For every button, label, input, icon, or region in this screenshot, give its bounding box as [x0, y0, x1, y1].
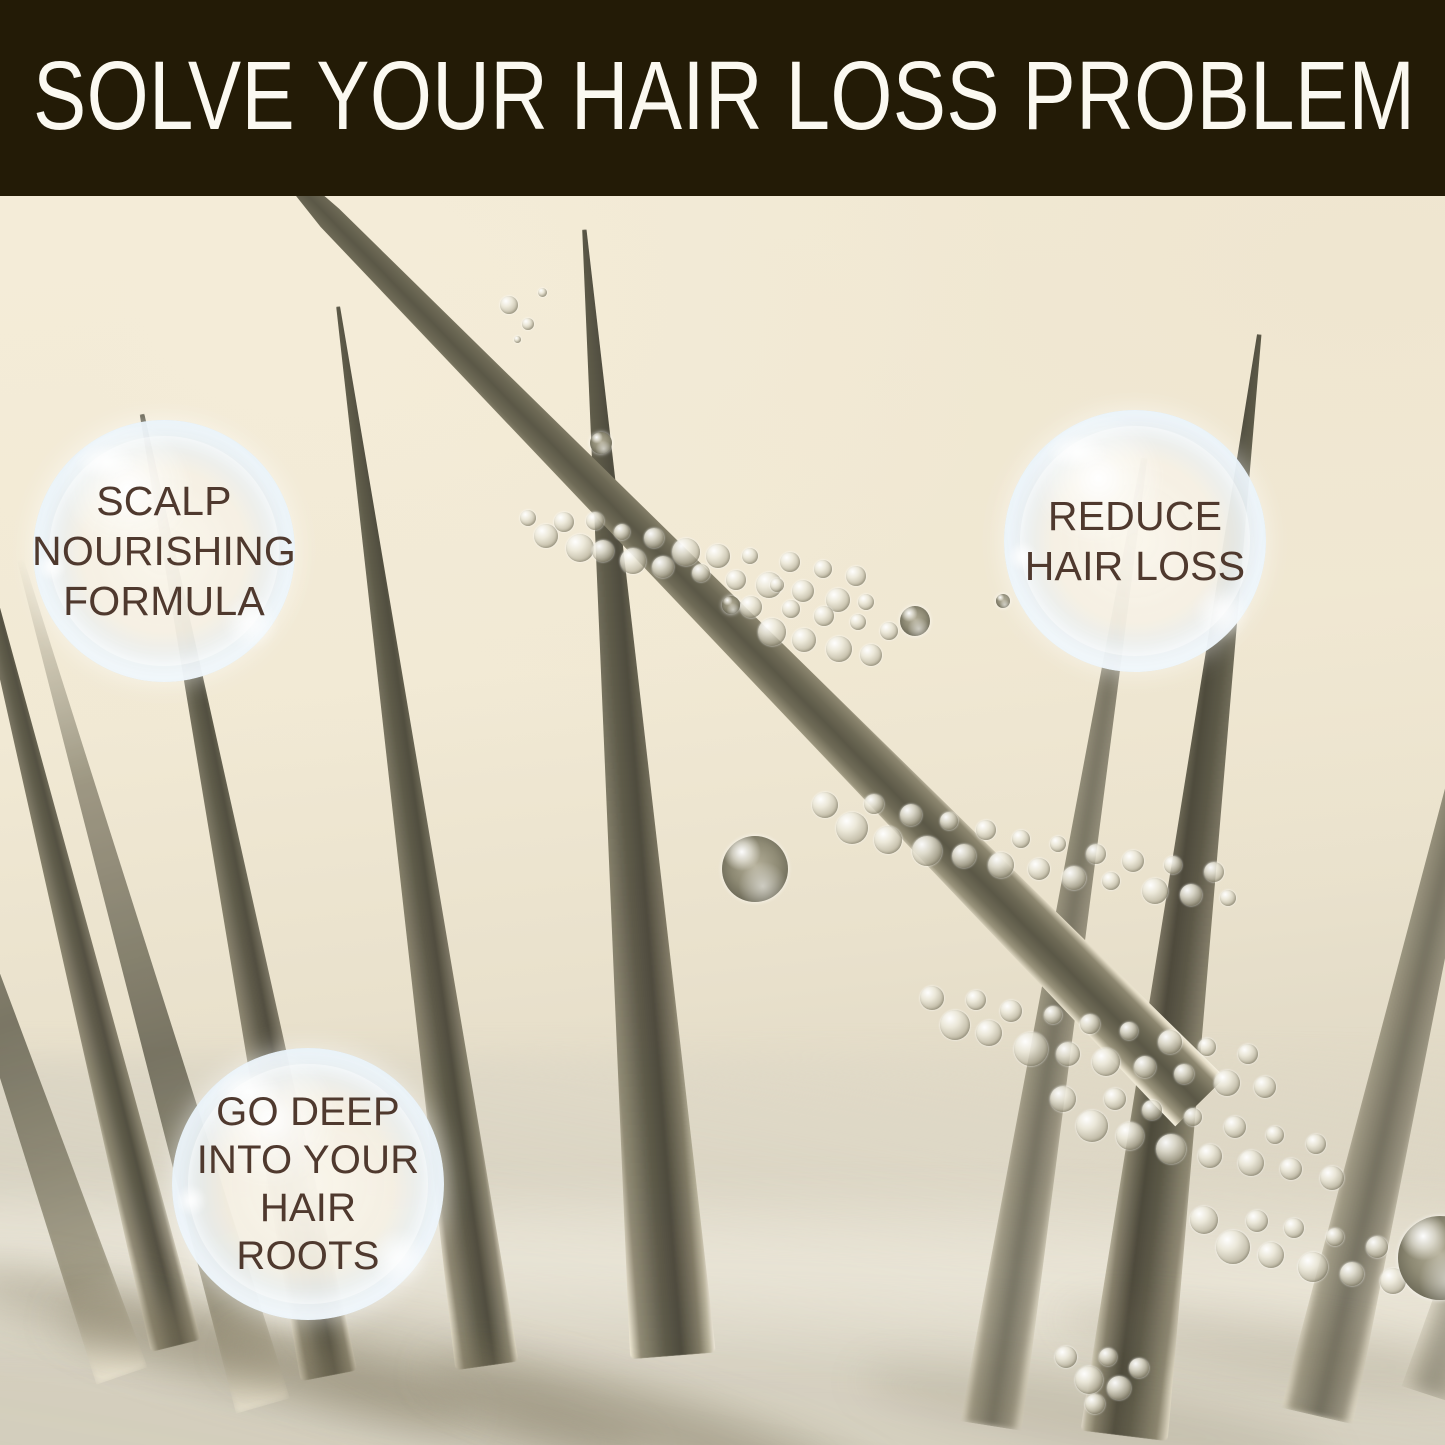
feature-bubble-label: REDUCE HAIR LOSS	[1019, 491, 1252, 591]
promotional-banner-image: SOLVE YOUR HAIR LOSS PROBLEM SCALP NOURI…	[0, 0, 1445, 1445]
serum-droplet-small-right	[996, 594, 1010, 608]
bubble-highlight-top-left-icon	[75, 444, 138, 481]
header-banner: SOLVE YOUR HAIR LOSS PROBLEM	[0, 0, 1445, 196]
feature-bubble-reduce-hair-loss[interactable]: REDUCE HAIR LOSS	[1004, 410, 1266, 672]
feature-bubble-label: GO DEEP INTO YOUR HAIR ROOTS	[191, 1088, 426, 1280]
bubble-highlight-bottom-right-icon	[1193, 586, 1251, 638]
serum-droplet-large-center	[722, 836, 788, 902]
serum-droplet-small-mid	[722, 596, 740, 614]
page-title: SOLVE YOUR HAIR LOSS PROBLEM	[33, 44, 1172, 148]
serum-droplet-small-upper	[590, 432, 612, 454]
feature-bubble-label: SCALP NOURISHING FORMULA	[26, 476, 302, 626]
serum-droplet-small-lower	[900, 606, 930, 636]
feature-bubble-go-deep-into-your-hair-roots[interactable]: GO DEEP INTO YOUR HAIR ROOTS	[172, 1048, 444, 1320]
bubble-highlight-top-left-icon	[1046, 434, 1109, 471]
feature-bubble-scalp-nourishing-formula[interactable]: SCALP NOURISHING FORMULA	[33, 420, 295, 682]
